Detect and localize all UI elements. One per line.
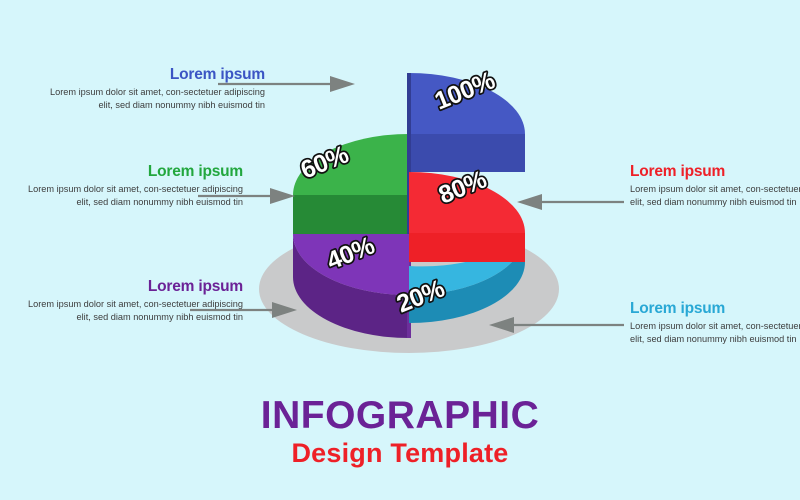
callout-green-body: Lorem ipsum dolor sit amet, con-sectetue… bbox=[28, 183, 243, 209]
sub-title: Design Template bbox=[0, 437, 800, 471]
main-title: INFOGRAPHIC bbox=[0, 396, 800, 435]
callout-blue[interactable]: Lorem ipsum Lorem ipsum dolor sit amet, … bbox=[50, 66, 265, 112]
callout-cyan-heading: Lorem ipsum bbox=[630, 300, 800, 317]
callout-red-heading: Lorem ipsum bbox=[630, 163, 800, 180]
callout-cyan[interactable]: Lorem ipsum Lorem ipsum dolor sit amet, … bbox=[630, 300, 800, 346]
callout-cyan-body: Lorem ipsum dolor sit amet, con-sectetue… bbox=[630, 320, 800, 346]
callout-red-body: Lorem ipsum dolor sit amet, con-sectetue… bbox=[630, 183, 800, 209]
callout-purple-heading: Lorem ipsum bbox=[28, 278, 243, 295]
title-block: INFOGRAPHIC Design Template bbox=[0, 396, 800, 471]
pie-seg-blue-side bbox=[409, 134, 525, 172]
callout-purple[interactable]: Lorem ipsum Lorem ipsum dolor sit amet, … bbox=[28, 278, 243, 324]
callout-purple-body: Lorem ipsum dolor sit amet, con-sectetue… bbox=[28, 298, 243, 324]
pie-seg-red-side bbox=[409, 233, 525, 262]
callout-blue-heading: Lorem ipsum bbox=[50, 66, 265, 83]
callout-blue-body: Lorem ipsum dolor sit amet, con-sectetue… bbox=[50, 86, 265, 112]
infographic-canvas: 100% 80% 60% 40% 20% bbox=[0, 0, 800, 500]
callout-green-heading: Lorem ipsum bbox=[28, 163, 243, 180]
pie-chart-svg: 100% 80% 60% 40% 20% bbox=[243, 48, 563, 368]
pie-chart-3d[interactable]: 100% 80% 60% 40% 20% bbox=[243, 48, 563, 368]
callout-green[interactable]: Lorem ipsum Lorem ipsum dolor sit amet, … bbox=[28, 163, 243, 209]
callout-red[interactable]: Lorem ipsum Lorem ipsum dolor sit amet, … bbox=[630, 163, 800, 209]
pie-seg-green-side bbox=[293, 195, 409, 234]
